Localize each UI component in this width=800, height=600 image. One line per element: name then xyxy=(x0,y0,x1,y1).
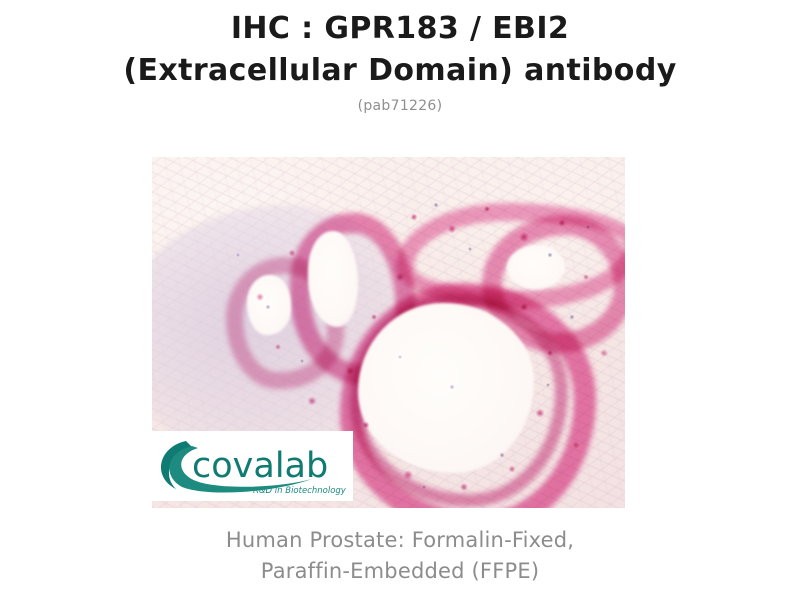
covalab-logo: covalab R&D in Biotechnology xyxy=(152,431,353,501)
catalog-number: (pab71226) xyxy=(0,96,800,116)
covalab-logo-plate: covalab R&D in Biotechnology xyxy=(152,431,353,501)
page-title-line-2: (Extracellular Domain) antibody xyxy=(0,50,800,92)
logo-wordmark: covalab xyxy=(192,446,328,486)
micrograph-image: covalab R&D in Biotechnology xyxy=(152,157,625,508)
caption-line-1: Human Prostate: Formalin-Fixed, xyxy=(0,525,800,556)
figure-caption: Human Prostate: Formalin-Fixed, Paraffin… xyxy=(0,525,800,587)
caption-line-2: Paraffin-Embedded (FFPE) xyxy=(0,556,800,587)
figure-title-block: IHC : GPR183 / EBI2 (Extracellular Domai… xyxy=(0,8,800,116)
figure-page: IHC : GPR183 / EBI2 (Extracellular Domai… xyxy=(0,0,800,600)
logo-tagline: R&D in Biotechnology xyxy=(253,486,347,496)
page-title-line-1: IHC : GPR183 / EBI2 xyxy=(0,8,800,50)
